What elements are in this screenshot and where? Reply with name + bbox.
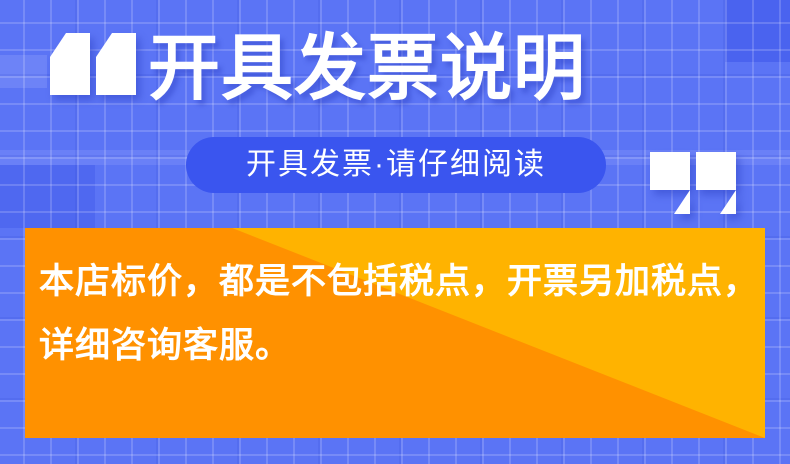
decor-block-lower-left — [0, 165, 95, 228]
quote-open-icon — [50, 33, 136, 95]
notice-line-2: 详细咨询客服。 — [39, 314, 755, 378]
invoice-notice-banner: 开具发票说明 开具发票·请仔细阅读 本店标价，都是不包括税点，开票另加税点， 详… — [0, 0, 790, 464]
notice-panel-text: 本店标价，都是不包括税点，开票另加税点， 详细咨询客服。 — [39, 250, 755, 378]
page-title: 开具发票说明 — [148, 26, 586, 112]
notice-line-1: 本店标价，都是不包括税点，开票另加税点， — [39, 250, 755, 314]
subtitle-pill-label: 开具发票·请仔细阅读 — [246, 149, 546, 181]
decor-block-upper-left — [0, 55, 47, 88]
quote-close-icon — [650, 152, 736, 214]
subtitle-pill: 开具发票·请仔细阅读 — [186, 137, 606, 193]
decor-block-top-right — [725, 0, 790, 62]
notice-panel: 本店标价，都是不包括税点，开票另加税点， 详细咨询客服。 — [25, 228, 765, 438]
